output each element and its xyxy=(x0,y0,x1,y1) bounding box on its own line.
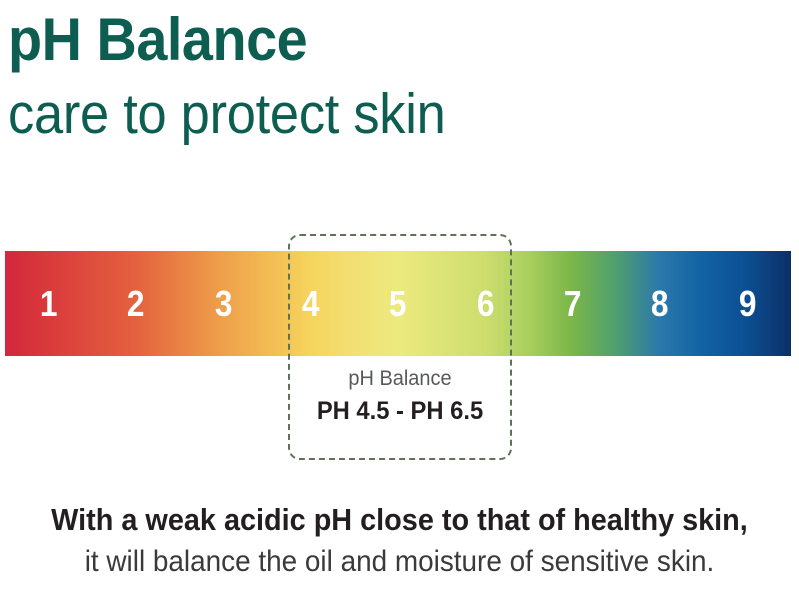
page-subtitle: care to protect skin xyxy=(8,80,726,148)
ph-tick-1: 1 xyxy=(10,251,87,356)
ph-tick-3: 3 xyxy=(185,251,262,356)
ph-balance-highlight-box xyxy=(288,234,512,460)
ph-tick-8: 8 xyxy=(622,251,699,356)
page-title: pH Balance xyxy=(8,4,733,76)
footer-block: With a weak acidic pH close to that of h… xyxy=(0,500,799,582)
ph-tick-2: 2 xyxy=(98,251,175,356)
footer-subline: it will balance the oil and moisture of … xyxy=(28,542,771,582)
footer-headline: With a weak acidic pH close to that of h… xyxy=(28,500,771,540)
ph-tick-9: 9 xyxy=(709,251,786,356)
ph-tick-7: 7 xyxy=(534,251,611,356)
header-block: pH Balance care to protect skin xyxy=(8,4,788,148)
